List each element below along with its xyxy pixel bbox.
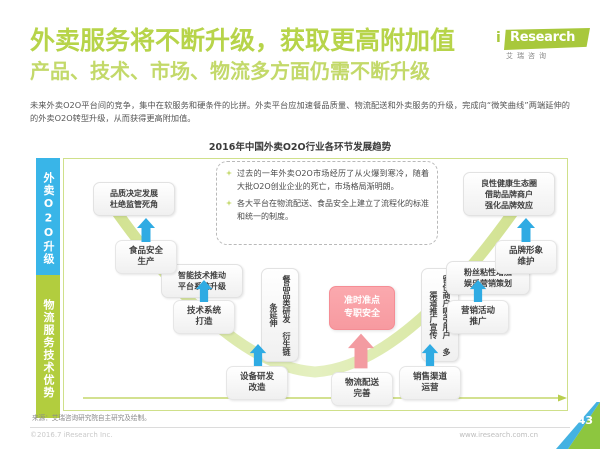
bullet-text: 过去的一年外卖O2O市场经历了从火爆到寒冷，随着大批O2O创业企业的死亡，市场格… — [237, 168, 429, 193]
node-label: 食品安全 生产 — [129, 246, 163, 268]
arrow-up-brand-image-icon — [517, 218, 535, 242]
arrow-up-equipment-icon — [249, 344, 267, 366]
logo-chinese-name: 艾瑞咨询 — [506, 51, 550, 61]
arrow-up-logistics-icon — [348, 330, 374, 372]
node-label: 品牌形象 维护 — [509, 246, 543, 268]
node-tech-system[interactable]: 技术系统 打造 — [173, 300, 235, 334]
logo-i-letter: i — [496, 30, 501, 46]
diamond-bullet-icon — [225, 199, 233, 207]
node-healthy-ecosystem[interactable]: 良性健康生态圈 借助品牌商户 强化品牌效应 — [463, 172, 555, 216]
website-url: www.iresearch.com.cn — [459, 431, 538, 439]
iresearch-logo: i Research 艾瑞咨询 — [494, 28, 590, 62]
node-label: 销售渠道 运营 — [413, 372, 447, 394]
node-sales-channel[interactable]: 销售渠道 运营 — [399, 366, 461, 400]
arrow-up-food-safety-icon — [137, 218, 155, 242]
arrow-up-marketing-icon — [469, 280, 487, 302]
page-title: 外卖服务将不断升级，获取更高附加值 — [30, 26, 490, 56]
value-band: 外卖O2O升级 物流服务技术优势 — [36, 158, 60, 418]
node-label: 物流配送 完善 — [345, 378, 379, 400]
band-lower-label: 物流服务技术优势 — [36, 275, 60, 418]
lead-paragraph: 未来外卖O2O平台间的竞争，集中在软服务和硬条件的比拼。外卖平台应加速餐品质量、… — [30, 99, 570, 125]
node-marketing-promo[interactable]: 营销活动 推广 — [447, 300, 509, 334]
slide-root: 外卖服务将不断升级，获取更高附加值 产品、技术、市场、物流多方面仍需不断升级 i… — [0, 0, 600, 449]
node-label: 技术系统 打造 — [187, 306, 221, 328]
bullet-item: 过去的一年外卖O2O市场经历了从火爆到寒冷，随着大批O2O创业企业的死亡，市场格… — [223, 168, 429, 193]
diamond-bullet-icon — [225, 169, 233, 177]
arrow-up-sales-channel-icon — [421, 344, 439, 366]
node-label: 餐品品类研发 衍生链条延伸 — [267, 272, 293, 358]
logo-wordmark: Research — [510, 30, 575, 45]
node-punctual-safe[interactable]: 准时准点 专职安全 — [329, 286, 395, 330]
page-number: 43 — [578, 414, 593, 427]
node-label: 营销活动 推广 — [461, 306, 495, 328]
node-label: 设备研发 改造 — [240, 372, 274, 394]
band-upper-label: 外卖O2O升级 — [36, 158, 60, 275]
node-label: 品质决定发展 杜绝监管死角 — [110, 188, 158, 210]
footer-divider — [30, 427, 570, 428]
copyright-text: ©2016.7 iResearch Inc. — [30, 431, 113, 439]
node-brand-image[interactable]: 品牌形象 维护 — [495, 240, 557, 274]
page-subtitle: 产品、技术、市场、物流多方面仍需不断升级 — [30, 58, 500, 84]
node-label: 准时准点 专职安全 — [344, 295, 380, 321]
node-food-safety[interactable]: 食品安全 生产 — [115, 240, 177, 274]
node-equipment-rd[interactable]: 设备研发 改造 — [226, 366, 288, 400]
node-logistics[interactable]: 物流配送 完善 — [331, 372, 393, 406]
node-quality-supervision[interactable]: 品质决定发展 杜绝监管死角 — [93, 182, 175, 216]
bullet-item: 各大平台在物流配送、食品安全上建立了流程化的标准和统一的制度。 — [223, 198, 429, 223]
arrow-up-tech-system-icon — [195, 280, 213, 302]
source-note: 来源：艾瑞咨询研究院自主研究及绘制。 — [32, 412, 151, 422]
chart-title: 2016年中国外卖O2O行业各环节发展趋势 — [0, 139, 600, 153]
bullet-text: 各大平台在物流配送、食品安全上建立了流程化的标准和统一的制度。 — [237, 198, 429, 223]
insight-callout: 过去的一年外卖O2O市场经历了从火爆到寒冷，随着大批O2O创业企业的死亡，市场格… — [216, 161, 438, 245]
node-label: 良性健康生态圈 借助品牌商户 强化品牌效应 — [481, 178, 537, 211]
